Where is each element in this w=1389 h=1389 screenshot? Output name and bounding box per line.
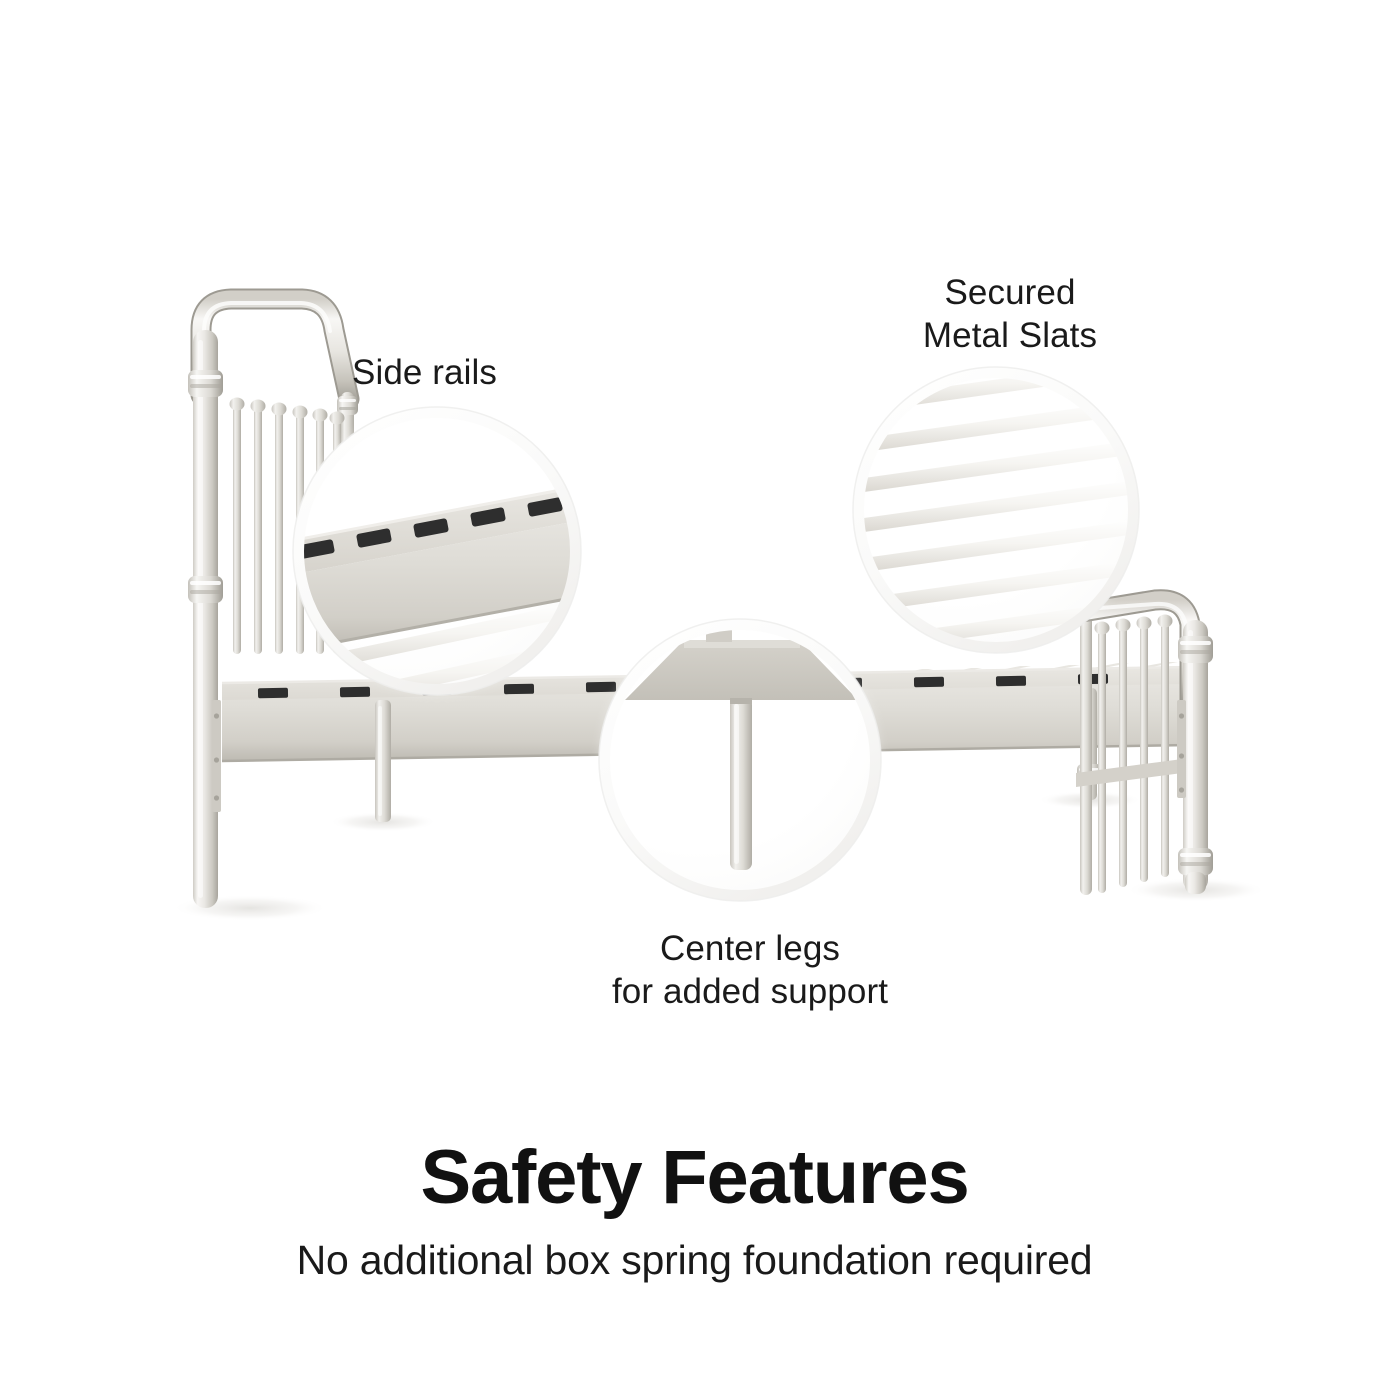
support-leg-left [375, 700, 391, 822]
page-subtitle: No additional box spring foundation requ… [0, 1216, 1389, 1283]
infographic-page: Side rails SecuredMetal Slats Center leg… [0, 0, 1389, 1389]
callout-line: for added support [612, 972, 888, 1011]
page-title: Safety Features [0, 1140, 1389, 1216]
callout-line: Center legs [660, 929, 840, 968]
callout-label-secured-metal-slats: SecuredMetal Slats [890, 272, 1130, 357]
collar-ring [1178, 636, 1213, 663]
product-illustration [0, 0, 1389, 1060]
callout-label-side-rails: Side rails [352, 352, 497, 395]
collar-ring [188, 370, 223, 397]
collar-ring [1178, 848, 1213, 875]
callout-line: Metal Slats [923, 316, 1097, 355]
rail-bracket [1177, 700, 1186, 798]
callout-circle-center-legs [599, 616, 881, 901]
rail-bracket [212, 700, 221, 812]
headline-block: Safety Features No additional box spring… [0, 1140, 1389, 1283]
callout-line: Secured [944, 273, 1075, 312]
collar-ring [188, 576, 223, 603]
footboard-spindles [1095, 615, 1173, 894]
callout-label-center-legs: Center legsfor added support [570, 928, 930, 1013]
